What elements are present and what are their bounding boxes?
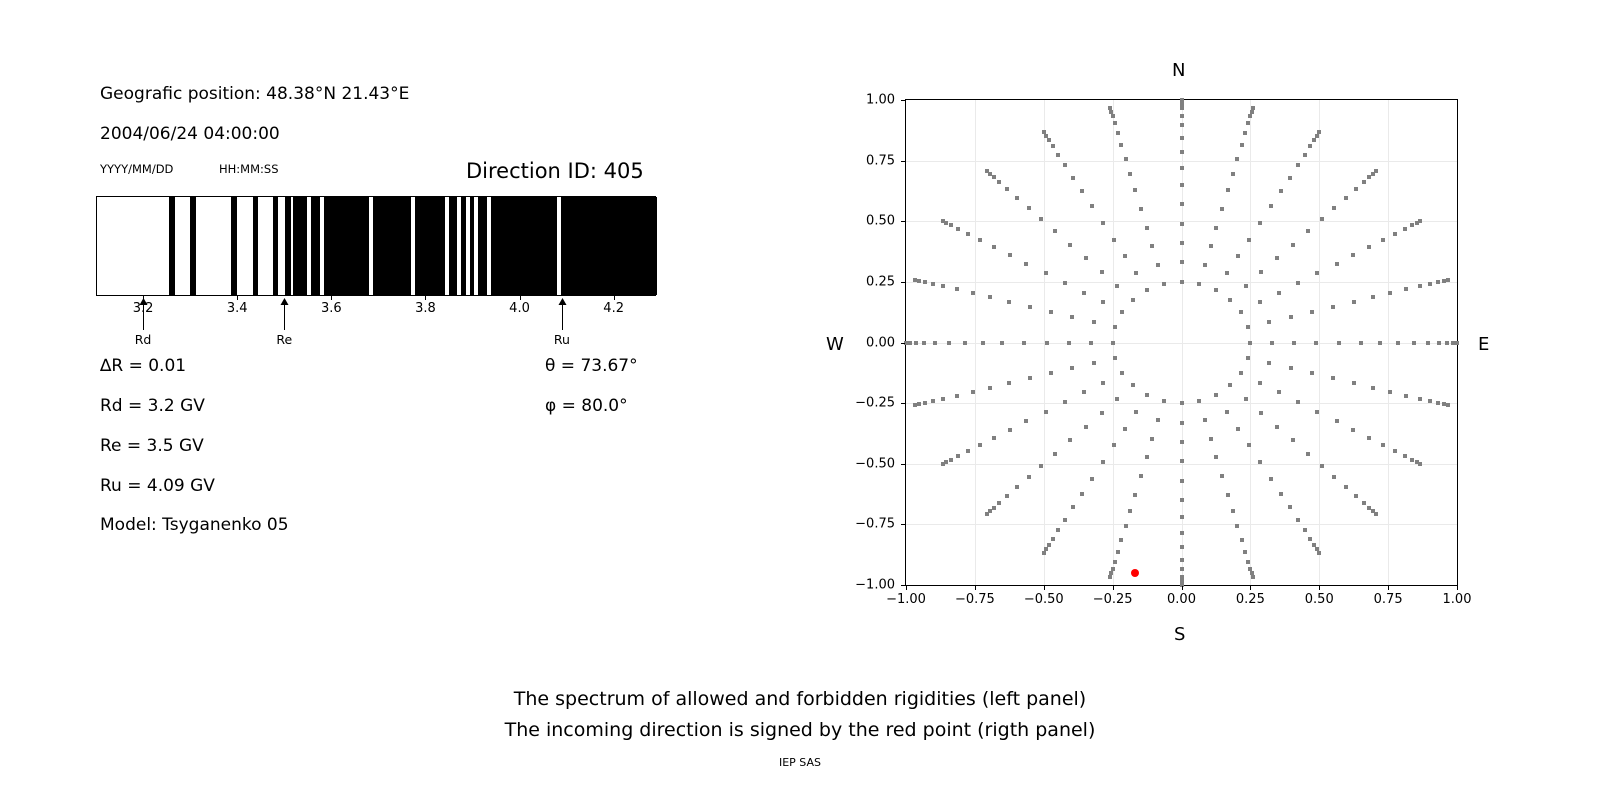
axis-tick-label: 4.2 <box>603 301 624 316</box>
forbidden-band <box>231 197 237 295</box>
gridline-horizontal <box>906 464 1457 465</box>
scatter-point <box>1063 518 1067 522</box>
scatter-point <box>1047 138 1051 142</box>
scatter-point <box>1289 315 1293 319</box>
gridline-horizontal <box>906 161 1457 162</box>
scatter-point <box>944 460 948 464</box>
scatter-point <box>1248 114 1252 118</box>
scatter-point <box>1214 226 1218 230</box>
forbidden-band <box>478 197 486 295</box>
scatter-point <box>1080 492 1084 496</box>
scatter-point <box>1352 381 1356 385</box>
scatter-point <box>1225 271 1229 275</box>
scatter-point <box>997 501 1001 505</box>
scatter-point <box>1071 505 1075 509</box>
scatter-point <box>1156 263 1160 267</box>
scatter-point <box>1258 221 1262 225</box>
scatter-point <box>1180 202 1184 206</box>
scatter-point <box>1056 153 1060 157</box>
x-tick-mark <box>1250 586 1251 590</box>
direction-scatter-plot <box>905 99 1458 586</box>
scatter-point <box>1367 436 1371 440</box>
scatter-point <box>1352 300 1356 304</box>
scatter-point <box>985 169 989 173</box>
scatter-point <box>1371 295 1375 299</box>
scatter-point <box>1428 282 1432 286</box>
scatter-point <box>1131 383 1135 387</box>
scatter-point <box>1288 176 1292 180</box>
scatter-point <box>1044 271 1048 275</box>
scatter-point <box>1120 371 1124 375</box>
scatter-point <box>1289 366 1293 370</box>
y-tick-label: −0.50 <box>840 456 895 471</box>
scatter-point <box>1412 341 1416 345</box>
scatter-point <box>1418 397 1422 401</box>
scatter-point <box>1128 509 1132 513</box>
scatter-point <box>1162 282 1166 286</box>
scatter-point <box>1404 287 1408 291</box>
scatter-point <box>1145 288 1149 292</box>
scatter-point <box>1378 341 1382 345</box>
scatter-point <box>1308 144 1312 148</box>
forbidden-band <box>293 197 307 295</box>
scatter-point <box>1246 560 1250 564</box>
scatter-point <box>1116 550 1120 554</box>
scatter-point <box>949 458 953 462</box>
scatter-point <box>947 341 951 345</box>
scatter-point <box>1320 217 1324 221</box>
forbidden-band <box>470 197 474 295</box>
scatter-point <box>1277 390 1281 394</box>
scatter-point <box>1236 427 1240 431</box>
y-tick-mark <box>901 221 905 222</box>
forbidden-band <box>491 197 557 295</box>
scatter-point <box>1235 524 1239 528</box>
scatter-point <box>1180 515 1184 519</box>
x-tick-mark <box>1182 586 1183 590</box>
scatter-point <box>1180 440 1184 444</box>
scatter-point <box>1367 245 1371 249</box>
scatter-point <box>1240 538 1244 542</box>
scatter-point <box>1362 180 1366 184</box>
scatter-point <box>1111 567 1115 571</box>
marker-label-rd: Rd <box>135 332 152 347</box>
scatter-point <box>956 454 960 458</box>
caption-line-1: The spectrum of allowed and forbidden ri… <box>0 688 1600 710</box>
scatter-point <box>992 506 996 510</box>
scatter-point <box>988 386 992 390</box>
scatter-point <box>1007 381 1011 385</box>
x-tick-mark <box>1388 586 1389 590</box>
forbidden-band <box>373 197 411 295</box>
scatter-point <box>966 449 970 453</box>
credit-label: IEP SAS <box>0 756 1600 769</box>
scatter-point <box>1145 393 1149 397</box>
y-tick-mark <box>901 524 905 525</box>
scatter-point <box>1288 505 1292 509</box>
scatter-point <box>1239 371 1243 375</box>
rigidity-spectrum-bar <box>96 196 656 296</box>
scatter-point <box>1403 227 1407 231</box>
scatter-point <box>1381 238 1385 242</box>
scatter-point <box>1335 262 1339 266</box>
gridline-horizontal <box>906 343 1457 344</box>
scatter-point <box>1344 485 1348 489</box>
scatter-point <box>1180 123 1184 127</box>
scatter-point <box>1259 270 1263 274</box>
scatter-point <box>1180 558 1184 562</box>
y-tick-mark <box>901 464 905 465</box>
scatter-point <box>1134 271 1138 275</box>
scatter-point <box>1027 206 1031 210</box>
marker-arrow-rd <box>143 304 144 330</box>
scatter-point <box>1393 449 1397 453</box>
x-tick-mark <box>1319 586 1320 590</box>
scatter-point <box>1296 400 1300 404</box>
scatter-point <box>1115 284 1119 288</box>
forbidden-band <box>311 197 319 295</box>
scatter-point <box>1024 262 1028 266</box>
scatter-point <box>1314 341 1318 345</box>
spectrum-axis: 3.23.43.63.84.04.2RdReRu <box>96 296 656 297</box>
scatter-point <box>992 436 996 440</box>
scatter-point <box>941 397 945 401</box>
scatter-point <box>1315 271 1319 275</box>
scatter-point <box>1108 106 1112 110</box>
scatter-point <box>1180 98 1184 102</box>
scatter-point <box>1209 244 1213 248</box>
scatter-point <box>1396 341 1400 345</box>
scatter-point <box>955 394 959 398</box>
scatter-point <box>1243 131 1247 135</box>
scatter-point <box>1270 341 1274 345</box>
x-tick-label: 1.00 <box>1443 592 1472 607</box>
scatter-point <box>1063 163 1067 167</box>
y-tick-label: 0.75 <box>840 153 895 168</box>
y-tick-label: 1.00 <box>840 93 895 108</box>
scatter-point <box>1068 438 1072 442</box>
scatter-point <box>1133 188 1137 192</box>
param-ru: Ru = 4.09 GV <box>100 476 215 496</box>
scatter-point <box>1180 114 1184 118</box>
scatter-point <box>978 443 982 447</box>
forbidden-band <box>253 197 259 295</box>
axis-tick-label: 4.0 <box>509 301 530 316</box>
marker-arrow-ru <box>562 304 563 330</box>
scatter-point <box>1359 341 1363 345</box>
x-tick-label: −0.50 <box>1024 592 1064 607</box>
scatter-point <box>1240 143 1244 147</box>
scatter-point <box>1246 356 1250 360</box>
scatter-point <box>1220 474 1224 478</box>
axis-tick-mark <box>425 296 426 300</box>
scatter-point <box>988 295 992 299</box>
scatter-point <box>1101 460 1105 464</box>
scatter-point <box>1145 455 1149 459</box>
marker-arrow-re <box>284 304 285 330</box>
scatter-point <box>1296 518 1300 522</box>
forbidden-band <box>561 197 657 295</box>
scatter-point <box>1056 528 1060 532</box>
scatter-point <box>1150 244 1154 248</box>
scatter-point <box>1068 243 1072 247</box>
param-rd: Rd = 3.2 GV <box>100 396 205 416</box>
scatter-point <box>1027 475 1031 479</box>
scatter-point <box>1123 427 1127 431</box>
scatter-point <box>1446 278 1450 282</box>
forbidden-band <box>273 197 279 295</box>
y-tick-label: 0.25 <box>840 274 895 289</box>
scatter-point <box>1426 341 1430 345</box>
scatter-point <box>1108 575 1112 579</box>
scatter-point <box>1209 437 1213 441</box>
scatter-point <box>963 341 967 345</box>
forbidden-band <box>449 197 457 295</box>
scatter-point <box>1317 551 1321 555</box>
scatter-point <box>1120 310 1124 314</box>
scatter-point <box>1180 575 1184 579</box>
y-tick-label: −0.75 <box>840 517 895 532</box>
scatter-point <box>1112 238 1116 242</box>
scatter-point <box>1162 399 1166 403</box>
scatter-point <box>1418 462 1422 466</box>
axis-tick-mark <box>614 296 615 300</box>
scatter-point <box>931 399 935 403</box>
scatter-point <box>941 284 945 288</box>
param-phi: φ = 80.0° <box>545 396 628 416</box>
scatter-point <box>1258 300 1262 304</box>
scatter-point <box>1131 298 1135 302</box>
scatter-point <box>1317 130 1321 134</box>
x-tick-mark <box>1044 586 1045 590</box>
scatter-point <box>1180 401 1184 405</box>
scatter-point <box>1445 341 1449 345</box>
scatter-point <box>1139 207 1143 211</box>
scatter-point <box>1008 428 1012 432</box>
x-tick-mark <box>1113 586 1114 590</box>
scatter-point <box>1332 206 1336 210</box>
scatter-point <box>1374 512 1378 516</box>
scatter-point <box>1337 341 1341 345</box>
scatter-point <box>1180 241 1184 245</box>
scatter-point <box>1100 270 1104 274</box>
scatter-point <box>1053 229 1057 233</box>
datetime-label: 2004/06/24 04:00:00 <box>100 124 280 144</box>
scatter-point <box>1437 341 1441 345</box>
scatter-point <box>1351 428 1355 432</box>
scatter-point <box>1089 341 1093 345</box>
scatter-point <box>1180 280 1184 284</box>
scatter-point <box>1063 281 1067 285</box>
x-tick-label: −1.00 <box>886 592 926 607</box>
scatter-point <box>1156 418 1160 422</box>
scatter-point <box>978 238 982 242</box>
scatter-point <box>1310 310 1314 314</box>
scatter-point <box>1092 361 1096 365</box>
scatter-point <box>1128 172 1132 176</box>
y-tick-label: 0.50 <box>840 214 895 229</box>
forbidden-band <box>415 197 445 295</box>
x-tick-mark <box>1457 586 1458 590</box>
scatter-point <box>1180 531 1184 535</box>
scatter-point <box>1239 310 1243 314</box>
scatter-point <box>1354 494 1358 498</box>
scatter-point <box>1251 575 1255 579</box>
scatter-point <box>1063 400 1067 404</box>
scatter-point <box>1418 219 1422 223</box>
scatter-point <box>1248 341 1252 345</box>
scatter-point <box>944 221 948 225</box>
axis-tick-mark <box>331 296 332 300</box>
scatter-point <box>1070 366 1074 370</box>
scatter-point <box>1344 196 1348 200</box>
scatter-point <box>1000 341 1004 345</box>
scatter-point <box>1124 157 1128 161</box>
scatter-point <box>1277 291 1281 295</box>
scatter-point <box>1388 291 1392 295</box>
scatter-point <box>941 462 945 466</box>
scatter-point <box>1180 222 1184 226</box>
scatter-point <box>1015 485 1019 489</box>
x-tick-label: 0.25 <box>1236 592 1265 607</box>
x-tick-mark <box>975 586 976 590</box>
scatter-point <box>1180 498 1184 502</box>
scatter-point <box>1371 386 1375 390</box>
scatter-point <box>1303 528 1307 532</box>
scatter-point <box>1244 284 1248 288</box>
scatter-point <box>1042 130 1046 134</box>
y-tick-mark <box>901 403 905 404</box>
scatter-point <box>1082 390 1086 394</box>
scatter-point <box>1070 315 1074 319</box>
scatter-point <box>1436 401 1440 405</box>
y-tick-label: 0.00 <box>840 335 895 350</box>
scatter-point <box>913 403 917 407</box>
scatter-point <box>1393 232 1397 236</box>
scatter-point <box>1247 443 1251 447</box>
axis-tick-mark <box>237 296 238 300</box>
scatter-point <box>1090 204 1094 208</box>
scatter-point <box>1124 524 1128 528</box>
scatter-point <box>1410 223 1414 227</box>
y-tick-label: −0.25 <box>840 396 895 411</box>
scatter-point <box>1101 381 1105 385</box>
scatter-point <box>1112 443 1116 447</box>
marker-label-re: Re <box>276 332 292 347</box>
scatter-point <box>1267 361 1271 365</box>
scatter-point <box>1180 183 1184 187</box>
param-re: Re = 3.5 GV <box>100 436 204 456</box>
scatter-point <box>1251 106 1255 110</box>
scatter-point <box>931 282 935 286</box>
scatter-point <box>1231 172 1235 176</box>
scatter-point <box>1008 253 1012 257</box>
scatter-point <box>1225 410 1229 414</box>
scatter-point <box>1101 221 1105 225</box>
scatter-point <box>933 341 937 345</box>
x-tick-label: 0.75 <box>1374 592 1403 607</box>
scatter-point <box>1259 411 1263 415</box>
scatter-point <box>1113 121 1117 125</box>
scatter-point <box>1279 492 1283 496</box>
scatter-point <box>1180 260 1184 264</box>
scatter-point <box>1053 452 1057 456</box>
forbidden-band <box>324 197 369 295</box>
scatter-point <box>1296 281 1300 285</box>
scatter-point <box>1351 253 1355 257</box>
geographic-position-label: Geografic position: 48.38°N 21.43°E <box>100 84 409 104</box>
scatter-point <box>1248 567 1252 571</box>
scatter-point <box>1045 341 1049 345</box>
scatter-point <box>1180 567 1184 571</box>
scatter-point <box>1446 403 1450 407</box>
scatter-point <box>1310 371 1314 375</box>
scatter-point <box>1312 138 1316 142</box>
scatter-point <box>1113 356 1117 360</box>
scatter-point <box>1115 397 1119 401</box>
scatter-point <box>1180 166 1184 170</box>
scatter-point <box>1042 551 1046 555</box>
scatter-point <box>966 232 970 236</box>
scatter-point <box>1051 537 1055 541</box>
scatter-point <box>1067 341 1071 345</box>
scatter-point <box>985 512 989 516</box>
param-model: Model: Tsyganenko 05 <box>100 515 289 535</box>
scatter-point <box>1180 459 1184 463</box>
scatter-point <box>1428 399 1432 403</box>
scatter-point <box>1306 229 1310 233</box>
compass-north: N <box>1172 60 1185 81</box>
scatter-point <box>1331 305 1335 309</box>
scatter-point <box>1044 410 1048 414</box>
scatter-point <box>1367 175 1371 179</box>
scatter-point <box>1005 494 1009 498</box>
scatter-point <box>1051 144 1055 148</box>
scatter-point <box>1049 371 1053 375</box>
scatter-point <box>955 287 959 291</box>
scatter-point <box>1331 376 1335 380</box>
scatter-point <box>1214 393 1218 397</box>
scatter-point <box>913 278 917 282</box>
scatter-point <box>1455 341 1459 345</box>
marker-label-ru: Ru <box>554 332 570 347</box>
scatter-point <box>1308 537 1312 541</box>
x-tick-label: 0.00 <box>1167 592 1196 607</box>
y-tick-mark <box>901 100 905 101</box>
scatter-point <box>1236 254 1240 258</box>
scatter-point <box>1388 390 1392 394</box>
scatter-point <box>1246 325 1250 329</box>
scatter-point <box>1226 188 1230 192</box>
scatter-point <box>992 175 996 179</box>
scatter-point <box>1005 187 1009 191</box>
scatter-point <box>917 402 921 406</box>
scatter-point <box>1084 256 1088 260</box>
scatter-point <box>1332 475 1336 479</box>
scatter-point <box>1180 150 1184 154</box>
forbidden-band <box>169 197 175 295</box>
scatter-point <box>908 341 912 345</box>
forbidden-band <box>461 197 465 295</box>
scatter-point <box>1015 196 1019 200</box>
scatter-point <box>971 390 975 394</box>
scatter-point <box>1403 454 1407 458</box>
scatter-point <box>922 341 926 345</box>
scatter-point <box>1362 501 1366 505</box>
axis-tick-label: 3.6 <box>321 301 342 316</box>
scatter-point <box>1374 169 1378 173</box>
scatter-point <box>1258 381 1262 385</box>
